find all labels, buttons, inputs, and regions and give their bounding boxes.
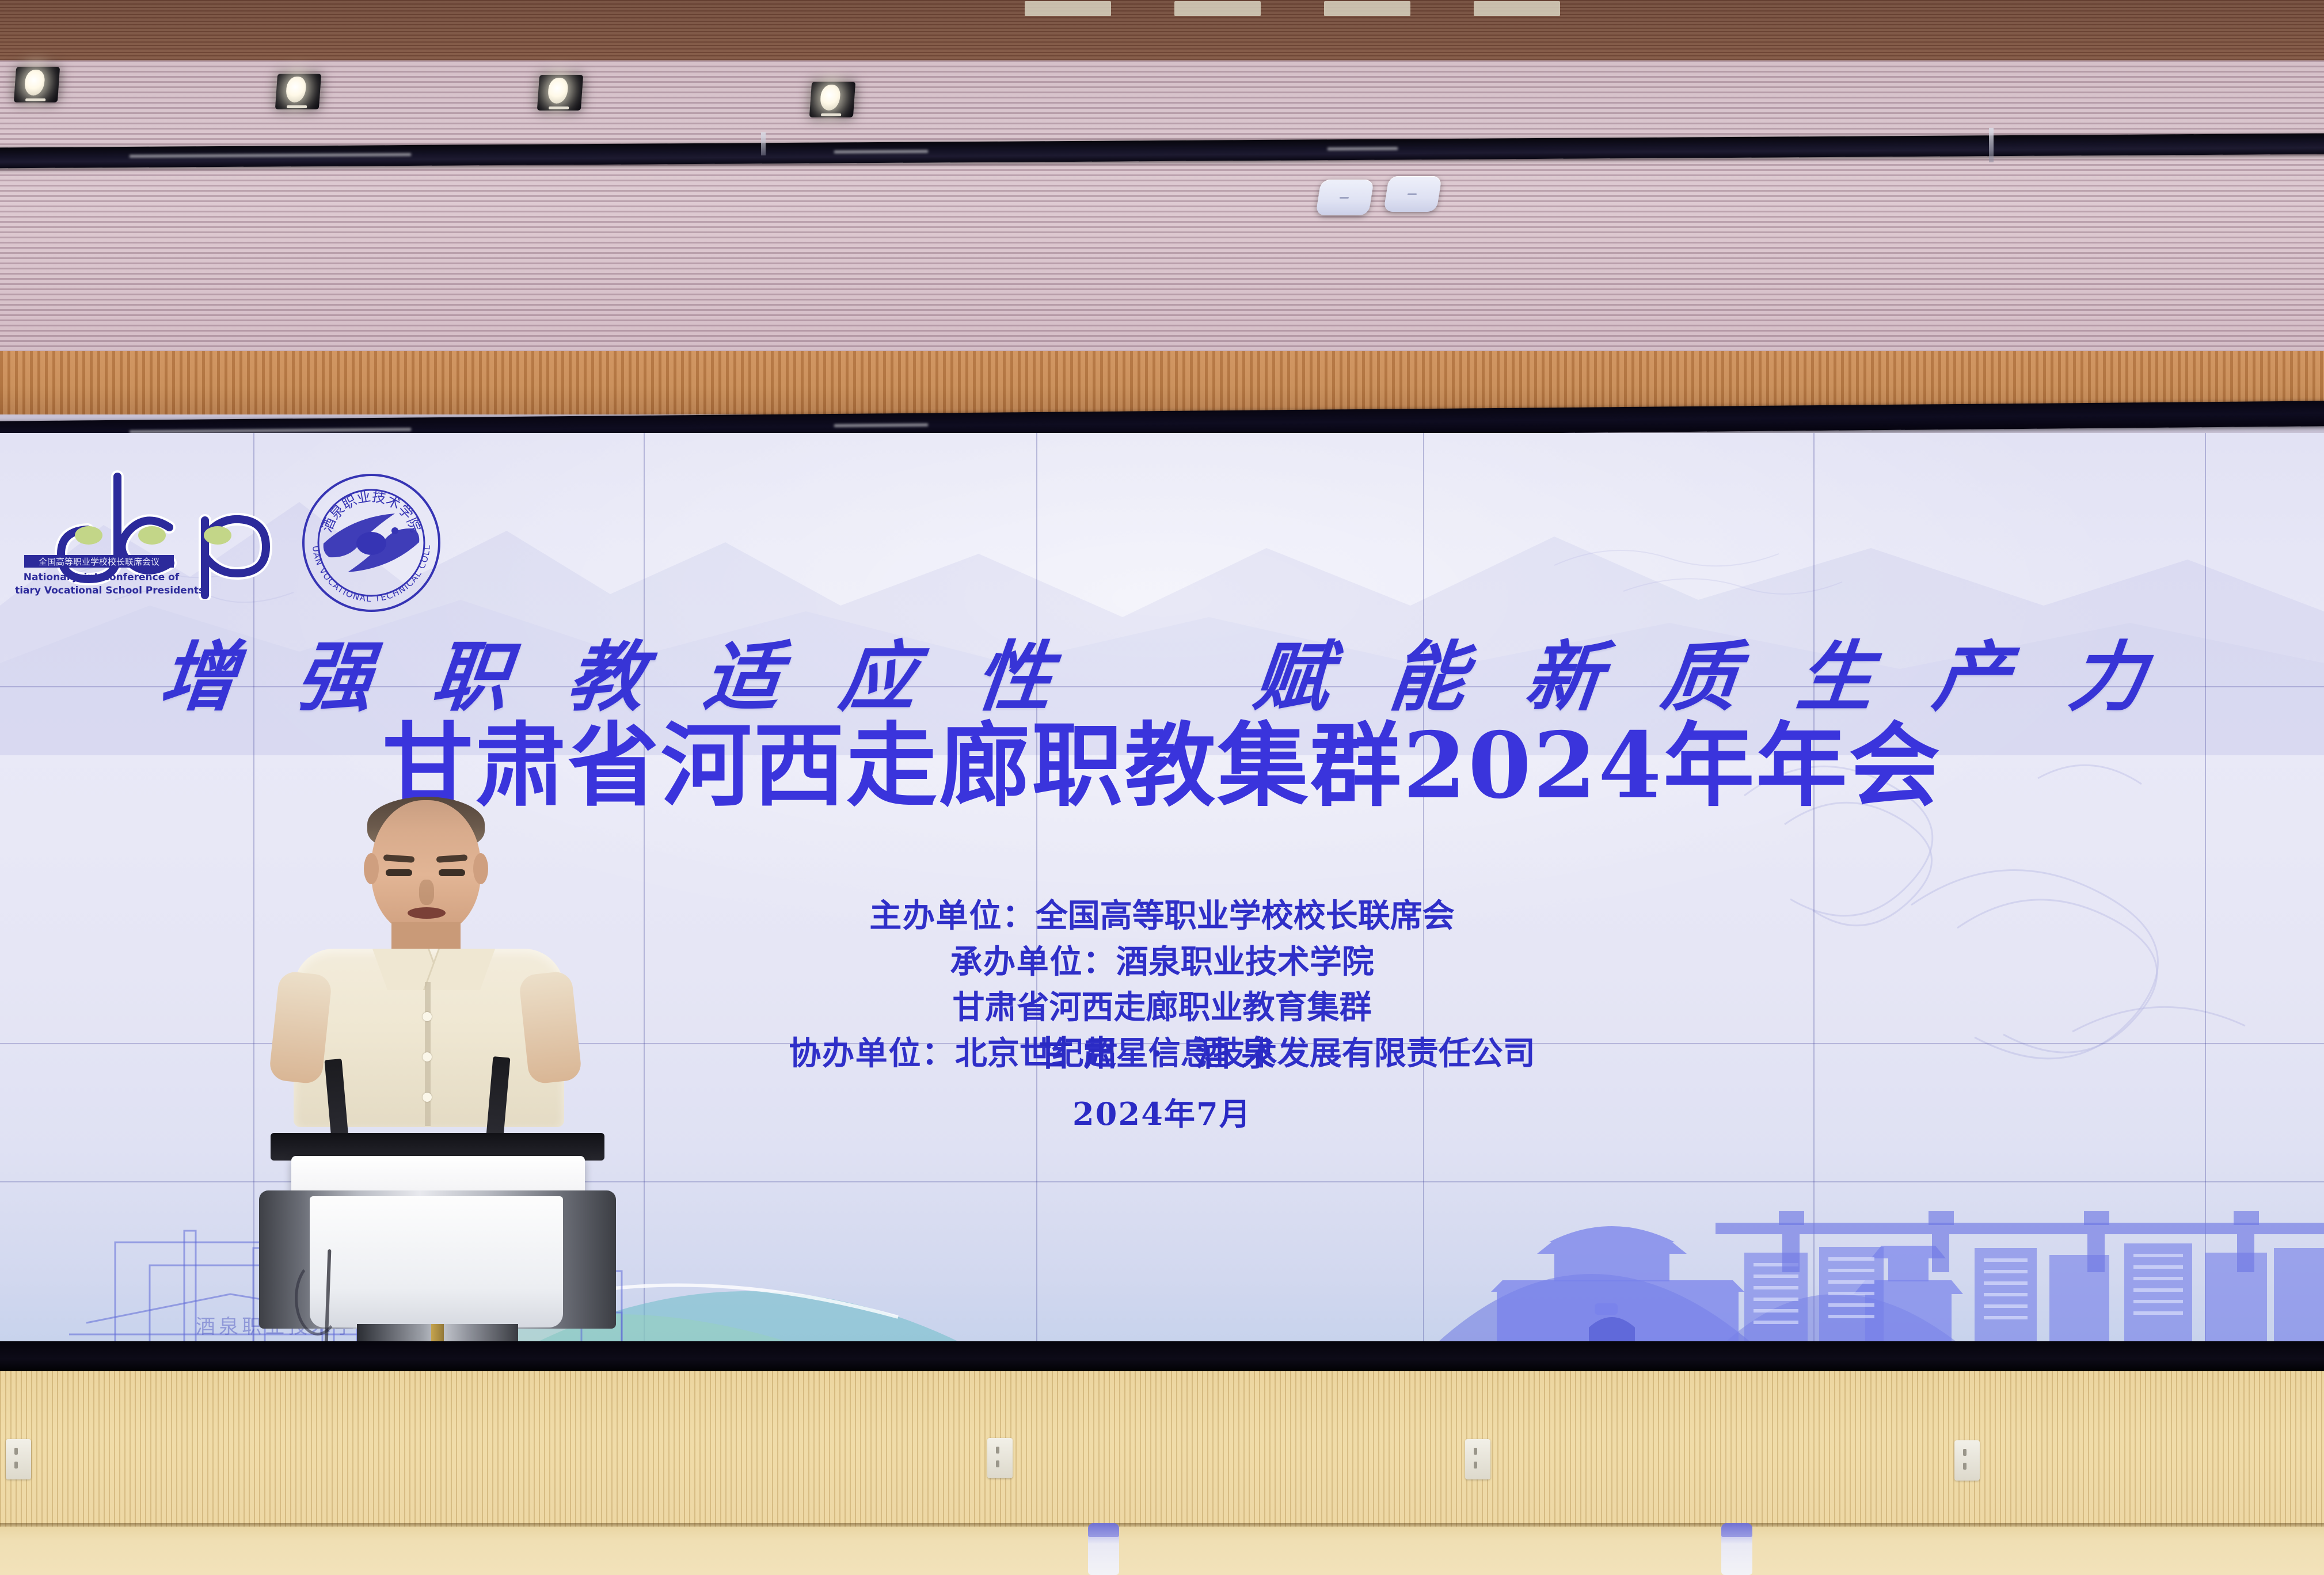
screen-bottom-frame <box>0 1341 2324 1374</box>
wall-outlet[interactable] <box>1465 1439 1490 1479</box>
organizer-value: 酒泉职业技术学院 <box>1116 943 1374 981</box>
stage-vent-slot <box>1324 1 1410 16</box>
college-seal-logo: 酒泉职业技术学院 JIUQUAN VOCATIONAL TECHNICAL CO… <box>299 471 443 615</box>
conference-hall-scene: 全国高等职业学校校长联席会议 National Joint Conference… <box>0 0 2324 1575</box>
logo-row: 全国高等职业学校校长联席会议 National Joint Conference… <box>0 456 518 600</box>
shirt-button <box>423 1012 432 1021</box>
speaker-mouth <box>408 907 446 919</box>
downlight-slot <box>287 105 307 108</box>
water-bottle[interactable] <box>1721 1523 1752 1575</box>
jcp-logo: 全国高等职业学校校长联席会议 National Joint Conference… <box>15 467 280 600</box>
organizer-value: 全国高等职业学校校长联席会 <box>1036 897 1455 935</box>
organizer-label: 主办单位： <box>869 897 1035 935</box>
speaker-ear <box>473 853 488 884</box>
ceiling-speaker-panel <box>1315 180 1374 215</box>
downlight-bulb <box>819 85 840 111</box>
ceiling-wire-hook <box>761 132 766 155</box>
podium-front-panel <box>310 1196 563 1327</box>
beam-highlight <box>130 153 412 158</box>
beam-highlight <box>1328 147 1398 151</box>
ceiling-downlight-icon <box>14 67 60 102</box>
wall-outlet[interactable] <box>6 1439 31 1479</box>
beam-highlight <box>834 423 928 427</box>
panel-marking <box>1408 193 1417 195</box>
speaker-eye <box>439 869 465 876</box>
event-main-title: 甘肃省河西走廊职教集群2024年年会 <box>0 721 2324 812</box>
downlight-slot <box>821 113 841 116</box>
stage-vent-slot <box>1025 1 1111 16</box>
podium-cable-loop <box>295 1261 341 1336</box>
organizer-label: 承办单位： <box>950 943 1116 981</box>
organizer-value: 甘肃省河西走廊职业教育集群 <box>953 988 1372 1026</box>
microphone-icon[interactable] <box>486 1056 511 1144</box>
speaker-eye <box>386 869 412 876</box>
speaker-nose <box>419 880 434 905</box>
ceiling-downlight-icon <box>809 82 855 117</box>
downlight-bulb <box>285 77 306 102</box>
stage-floor <box>0 1527 2324 1575</box>
downlight-slot <box>25 98 45 101</box>
ceiling-downlight-icon <box>275 74 321 109</box>
beam-highlight <box>834 150 928 154</box>
wall-outlet[interactable] <box>1954 1440 1980 1481</box>
downlight-bulb <box>24 70 45 96</box>
downlight-slot <box>549 106 569 109</box>
water-bottle[interactable] <box>1088 1523 1119 1575</box>
speaker-ear <box>364 853 379 884</box>
downlight-bulb <box>547 78 568 104</box>
stage-vent-slot <box>1174 1 1261 16</box>
ceiling-speaker-panel <box>1383 176 1442 212</box>
jcp-chinese-text: 全国高等职业学校校长联席会议 <box>39 557 159 567</box>
stage-vent-slot <box>1474 1 1560 16</box>
beam-highlight <box>130 428 412 433</box>
ceiling-downlight-icon <box>537 75 583 111</box>
bottle-cap <box>1721 1523 1752 1537</box>
shirt-collar <box>423 949 495 990</box>
ceiling-wire-hook <box>1989 128 1994 162</box>
panel-marking <box>1340 197 1349 199</box>
event-slogan: 增 强 职 教 适 应 性 赋 能 新 质 生 产 力 <box>0 616 2324 726</box>
bottle-cap <box>1088 1523 1119 1537</box>
jcp-english-line1: National Joint Conference of <box>24 572 180 583</box>
jcp-english-line2: Tertiary Vocational School Presidents <box>15 585 204 596</box>
wall-outlet[interactable] <box>987 1438 1013 1478</box>
